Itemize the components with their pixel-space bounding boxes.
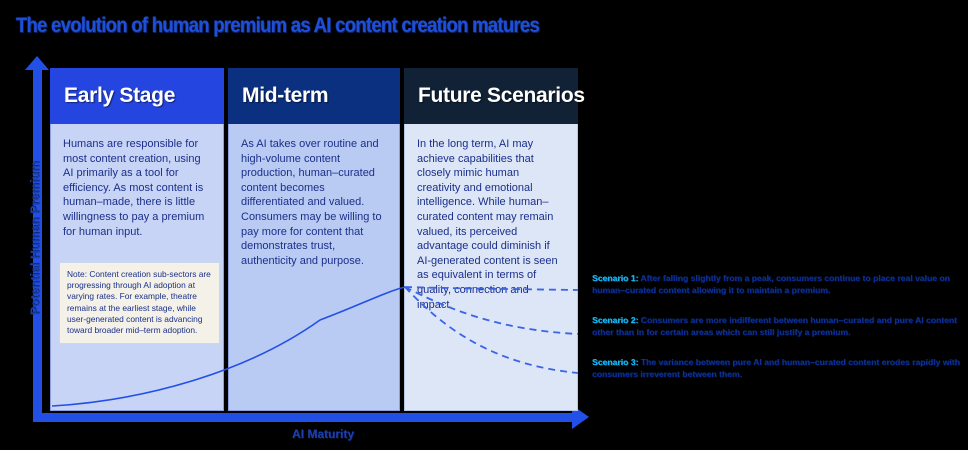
panel-future-scenarios-body: In the long term, AI may achieve capabil…: [404, 124, 578, 411]
panel-early-stage-title: Early Stage: [64, 84, 175, 108]
note-box-text: Note: Content creation sub-sectors are p…: [67, 269, 213, 336]
panel-mid-term-title: Mid-term: [242, 84, 328, 108]
panel-early-stage-header: Early Stage: [50, 68, 224, 124]
y-axis-label: Potential Human Premium: [28, 143, 48, 333]
panel-future-scenarios: Future Scenarios In the long term, AI ma…: [404, 68, 578, 411]
scenario-1-legend: Scenario 1: After falling slightly from …: [592, 272, 962, 297]
panel-early-stage-text: Humans are responsible for most content …: [51, 124, 223, 239]
panel-mid-term-text: As AI takes over routine and high-volume…: [229, 124, 399, 268]
panel-early-stage-body: Humans are responsible for most content …: [50, 124, 224, 411]
scenario-3-label: Scenario 3:: [592, 357, 638, 367]
panel-future-scenarios-title: Future Scenarios: [418, 84, 585, 108]
panel-future-scenarios-header: Future Scenarios: [404, 68, 578, 124]
scenario-2-text: Consumers are more indifferent between h…: [592, 315, 957, 337]
note-box: Note: Content creation sub-sectors are p…: [59, 262, 220, 344]
page-title: The evolution of human premium as AI con…: [16, 13, 544, 39]
scenario-3-text: The variance between pure AI and human–c…: [592, 357, 960, 379]
panel-early-stage: Early Stage Humans are responsible for m…: [50, 68, 224, 411]
scenario-1-text: After falling slightly from a peak, cons…: [592, 273, 950, 295]
scenario-1-label: Scenario 1:: [592, 273, 638, 283]
scenario-2-label: Scenario 2:: [592, 315, 638, 325]
panel-future-scenarios-text: In the long term, AI may achieve capabil…: [405, 124, 577, 312]
panel-mid-term: Mid-term As AI takes over routine and hi…: [228, 68, 400, 411]
panel-mid-term-header: Mid-term: [228, 68, 400, 124]
panel-mid-term-body: As AI takes over routine and high-volume…: [228, 124, 400, 411]
scenario-3-legend: Scenario 3: The variance between pure AI…: [592, 356, 962, 381]
x-axis-label: AI Maturity: [233, 427, 413, 441]
x-axis-line: [33, 413, 575, 422]
scenario-2-legend: Scenario 2: Consumers are more indiffere…: [592, 314, 962, 339]
infographic-canvas: The evolution of human premium as AI con…: [0, 0, 968, 450]
